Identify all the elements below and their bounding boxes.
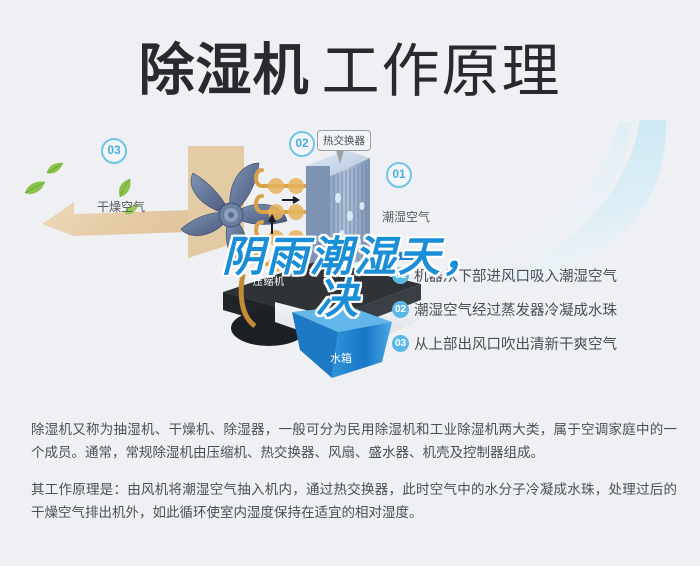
marker-badge-03: 03: [101, 138, 127, 164]
callout-heat-exchanger: 热交换器: [317, 130, 371, 151]
legend-text-01: 机器从下部进风口吸入潮湿空气: [414, 265, 617, 286]
legend-badge-02: 02: [392, 301, 409, 318]
leaf-icon: [46, 162, 64, 183]
water-tank-graphic: [290, 306, 395, 384]
legend-item: 02 潮湿空气经过蒸发器冷凝成水珠: [392, 296, 682, 322]
body-copy: 除湿机又称为抽湿机、干燥机、除湿器，一般可分为民用除湿机和工业除湿机两大类，属于…: [31, 418, 677, 524]
page-root: 除湿机工作原理: [0, 0, 700, 566]
legend-text-03: 从上部出风口吹出清新干爽空气: [414, 333, 617, 354]
legend-badge-03: 03: [392, 335, 409, 352]
label-water-tank: 水箱: [330, 350, 352, 366]
marker-badge-02: 02: [289, 131, 315, 157]
legend-badge-01: 01: [392, 267, 409, 284]
marker-label-dry-air: 干燥空气: [97, 198, 145, 215]
leaf-icon: [24, 180, 46, 202]
legend-list: 01 机器从下部进风口吸入潮湿空气 02 潮湿空气经过蒸发器冷凝成水珠 03 从…: [392, 262, 682, 364]
page-title: 除湿机工作原理: [0, 24, 700, 108]
page-title-part2: 工作原理: [321, 39, 561, 104]
page-title-part1: 除湿机: [138, 39, 309, 102]
legend-item: 01 机器从下部进风口吸入潮湿空气: [392, 262, 682, 288]
paragraph-intro: 除湿机又称为抽湿机、干燥机、除湿器，一般可分为民用除湿机和工业除湿机两大类，属于…: [31, 418, 677, 464]
label-compressor: 压缩机: [253, 273, 285, 288]
paragraph-principle: 其工作原理是：由风机将潮湿空气抽入机内，通过热交换器，此时空气中的水分子冷凝成水…: [31, 478, 677, 524]
marker-badge-01: 01: [386, 162, 412, 188]
marker-label-humid-air: 潮湿空气: [382, 208, 430, 225]
legend-item: 03 从上部出风口吹出清新干爽空气: [392, 330, 682, 356]
legend-text-02: 潮湿空气经过蒸发器冷凝成水珠: [414, 299, 617, 320]
